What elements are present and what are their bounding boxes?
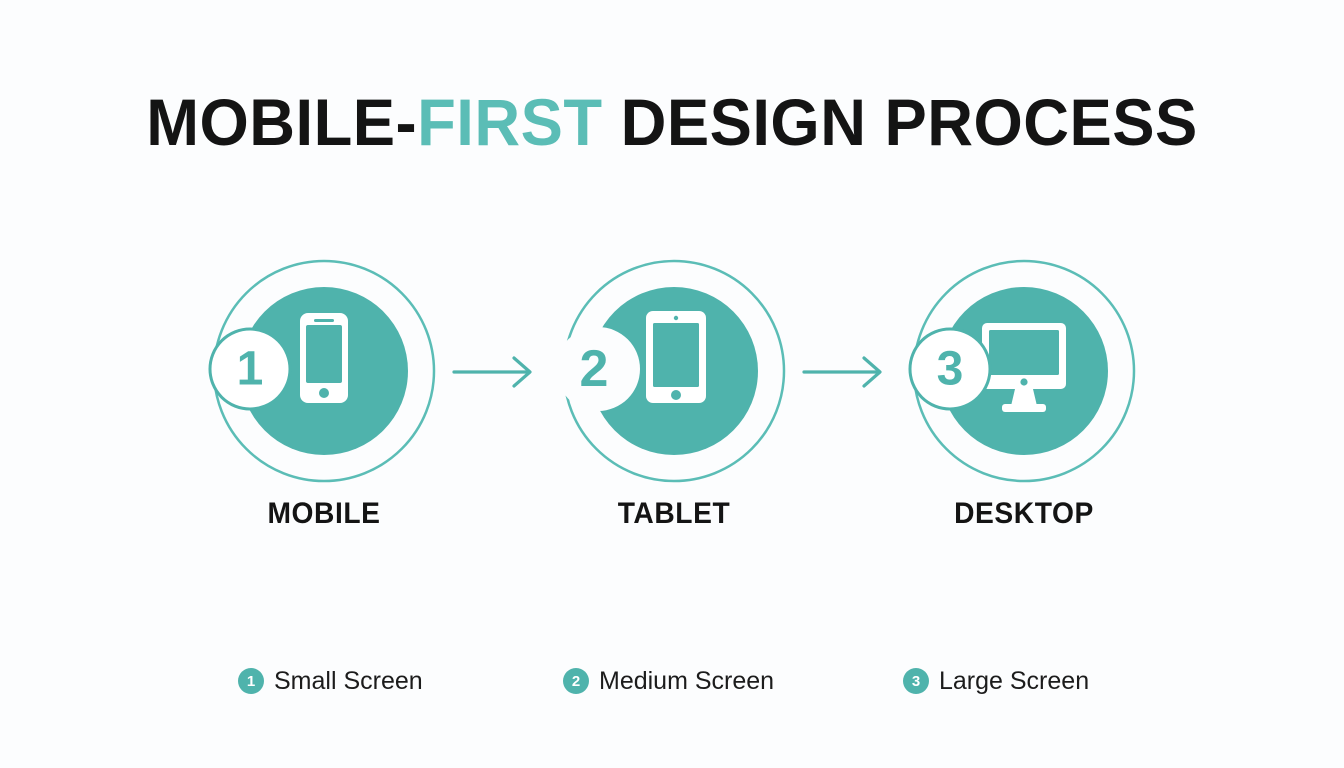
legend-label-2: Medium Screen xyxy=(599,667,774,696)
step-1-number: 1 xyxy=(237,343,264,396)
mobile-phone-icon xyxy=(300,313,348,403)
legend-item-large-screen[interactable]: 3 Large Screen xyxy=(903,663,1089,699)
legend-label-3: Large Screen xyxy=(939,667,1089,696)
arrow-step2-to-step3 xyxy=(802,352,892,392)
tablet-icon xyxy=(646,311,706,403)
page-title: MOBILE-FIRST DESIGN PROCESS xyxy=(27,84,1317,160)
step-3-desktop[interactable]: 3 xyxy=(904,251,1144,491)
legend-badge-2: 2 xyxy=(563,668,589,694)
step-3-caption: DESKTOP xyxy=(883,497,1165,531)
step-3-number: 3 xyxy=(937,343,964,396)
legend-label-1: Small Screen xyxy=(274,667,423,696)
step-1-caption: MOBILE xyxy=(183,497,465,531)
step-2-caption: TABLET xyxy=(533,497,815,531)
arrow-step1-to-step2 xyxy=(452,352,542,392)
legend-item-medium-screen[interactable]: 2 Medium Screen xyxy=(563,663,774,699)
page-title-part-1: MOBILE- xyxy=(146,85,417,159)
step-1-mobile[interactable]: 1 xyxy=(204,251,444,491)
process-steps: 1 xyxy=(0,251,1344,491)
legend-badge-1: 1 xyxy=(238,668,264,694)
step-2-number: 2 xyxy=(580,340,609,398)
step-1-number-badge: 1 xyxy=(210,329,290,409)
legend: 1 Small Screen 2 Medium Screen 3 Large S… xyxy=(0,663,1344,703)
page-title-part-2: DESIGN PROCESS xyxy=(603,85,1198,159)
step-3-number-badge: 3 xyxy=(910,329,990,409)
step-2-tablet[interactable]: 2 xyxy=(554,251,794,491)
legend-badge-3: 3 xyxy=(903,668,929,694)
legend-item-small-screen[interactable]: 1 Small Screen xyxy=(238,663,423,699)
step-captions: MOBILE TABLET DESKTOP xyxy=(0,497,1344,541)
page-title-accent: FIRST xyxy=(417,85,602,159)
